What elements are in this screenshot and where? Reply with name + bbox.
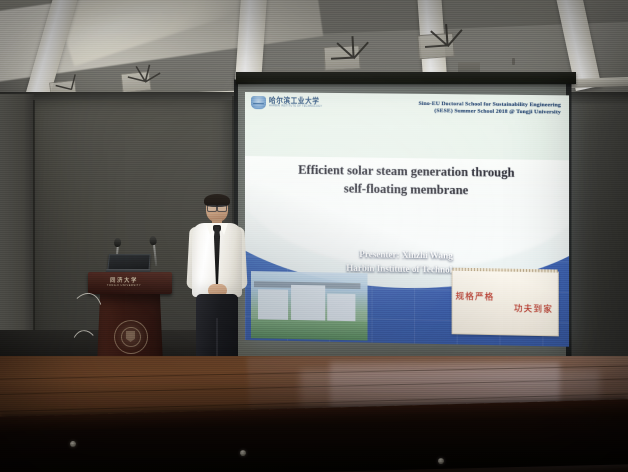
lecture-hall-photo: 哈尔滨工业大学 HARBIN INSTITUTE OF TECHNOLOGY S…: [0, 0, 628, 472]
hit-logo-text: 哈尔滨工业大学 HARBIN INSTITUTE OF TECHNOLOGY: [269, 97, 322, 108]
stage-edge-light-icon: [438, 458, 444, 464]
laptop[interactable]: [106, 254, 150, 274]
campus-building: [258, 290, 288, 321]
projected-slide: 哈尔滨工业大学 HARBIN INSTITUTE OF TECHNOLOGY S…: [245, 92, 569, 347]
podium-name-english: TONGJI UNIVERSITY: [107, 285, 141, 288]
sprinkler-icon: [512, 58, 515, 65]
campus-building: [291, 285, 326, 322]
campus-lawn: [251, 319, 367, 340]
campus-building: [328, 294, 356, 323]
university-seal-icon: [114, 320, 148, 354]
calligraphy-banner-edge: [452, 267, 558, 272]
slide-header: 哈尔滨工业大学 HARBIN INSTITUTE OF TECHNOLOGY S…: [245, 92, 569, 136]
glasses-icon: [207, 205, 227, 210]
air-vent-icon: [121, 71, 152, 93]
projection-screen-roller[interactable]: [236, 72, 576, 84]
event-heading: Sino-EU Doctoral School for Sustainabili…: [419, 101, 561, 117]
calligraphy-banner: 规格严格 功夫到家: [451, 269, 559, 336]
hit-crest-icon: [251, 96, 266, 109]
slide-title: Efficient solar steam generation through…: [264, 162, 549, 202]
slide-canvas: 哈尔滨工业大学 HARBIN INSTITUTE OF TECHNOLOGY S…: [245, 92, 569, 347]
hit-logo-chinese: 哈尔滨工业大学: [269, 97, 322, 105]
podium-nameplate: 同济大学 TONGJI UNIVERSITY: [100, 277, 148, 289]
event-heading-line-2: (SESE) Summer School 2018 @ Tongji Unive…: [419, 108, 561, 117]
calligraphy-line-2: 功夫到家: [455, 302, 555, 315]
air-vent-icon: [417, 33, 455, 59]
stage-edge-light-icon: [70, 441, 76, 447]
stage-edge-light-icon: [240, 450, 246, 456]
air-vent-icon: [323, 45, 360, 71]
wall-pillar: [0, 94, 34, 364]
hit-logo: 哈尔滨工业大学 HARBIN INSTITUTE OF TECHNOLOGY: [251, 96, 322, 110]
hit-logo-english: HARBIN INSTITUTE OF TECHNOLOGY: [269, 106, 322, 109]
campus-photo: [251, 271, 367, 340]
wall-seam: [33, 100, 35, 352]
